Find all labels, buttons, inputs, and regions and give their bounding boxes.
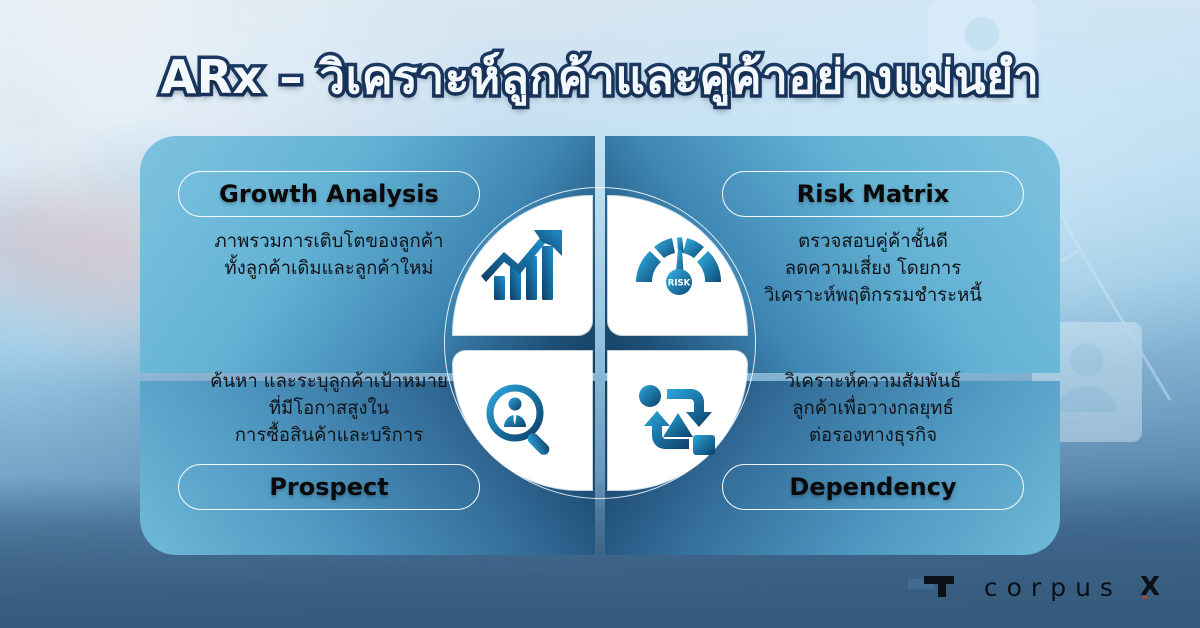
logo-x-mark: X bbox=[1140, 572, 1160, 602]
infographic-canvas: ARx – วิเคราะห์ลูกค้าและคู่ค้าอย่างแม่นย… bbox=[0, 0, 1200, 628]
pill-risk-matrix[interactable]: Risk Matrix bbox=[722, 171, 1024, 217]
center-hub: RISK bbox=[453, 196, 747, 490]
description-line: ลูกค้าเพื่อวางกลยุทธ์ bbox=[708, 396, 1038, 423]
risk-gauge-label: RISK bbox=[667, 278, 690, 288]
pill-dependency[interactable]: Dependency bbox=[722, 464, 1024, 510]
cp-monogram-icon bbox=[908, 574, 968, 600]
description-line: ตรวจสอบคู่ค้าชั้นดี bbox=[708, 229, 1038, 256]
pill-growth-analysis[interactable]: Growth Analysis bbox=[178, 171, 480, 217]
description-line: ทั้งลูกค้าเดิมและลูกค้าใหม่ bbox=[164, 256, 494, 283]
description-growth-analysis: ภาพรวมการเติบโตของลูกค้า ทั้งลูกค้าเดิมแ… bbox=[164, 229, 494, 283]
description-risk-matrix: ตรวจสอบคู่ค้าชั้นดี ลดความเสี่ยง โดยการ … bbox=[708, 229, 1038, 309]
brand-logo[interactable]: corpus X bbox=[908, 572, 1160, 602]
logo-wordmark: corpus bbox=[984, 573, 1122, 602]
description-line: ค้นหา และระบุลูกค้าเป้าหมาย bbox=[164, 369, 494, 396]
description-line: วิเคราะห์พฤติกรรมชำระหนี้ bbox=[708, 283, 1038, 310]
description-prospect: ค้นหา และระบุลูกค้าเป้าหมาย ที่มีโอกาสสู… bbox=[164, 369, 494, 449]
page-title: ARx – วิเคราะห์ลูกค้าและคู่ค้าอย่างแม่นย… bbox=[0, 52, 1200, 103]
description-line: ภาพรวมการเติบโตของลูกค้า bbox=[164, 229, 494, 256]
description-dependency: วิเคราะห์ความสัมพันธ์ ลูกค้าเพื่อวางกลยุ… bbox=[708, 369, 1038, 449]
description-line: การซื้อสินค้าและบริการ bbox=[164, 423, 494, 450]
pill-prospect[interactable]: Prospect bbox=[178, 464, 480, 510]
description-line: ต่อรองทางธุรกิจ bbox=[708, 423, 1038, 450]
description-line: วิเคราะห์ความสัมพันธ์ bbox=[708, 369, 1038, 396]
description-line: ที่มีโอกาสสูงใน bbox=[164, 396, 494, 423]
description-line: ลดความเสี่ยง โดยการ bbox=[708, 256, 1038, 283]
